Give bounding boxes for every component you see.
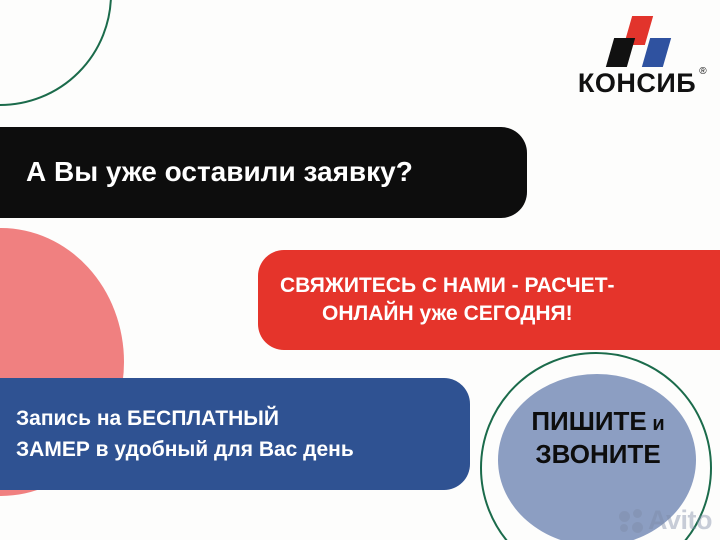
brand-logo: КОНСИБ® [568, 16, 706, 97]
avito-dot-4-icon [632, 522, 643, 533]
contact-banner-online: ОНЛАЙН [322, 302, 414, 325]
avito-dot-1-icon [619, 511, 630, 522]
call-to-action-line-2: ЗВОНИТЕ [496, 438, 700, 471]
call-to-action-line-1: ПИШИТЕ и [496, 405, 700, 438]
logo-black-parallelogram-icon [606, 38, 635, 67]
booking-banner-line-1: Запись на БЕСПЛАТНЫЙ [16, 403, 450, 435]
avito-logo-icon [619, 509, 645, 533]
avito-wordmark: Avito [648, 507, 712, 534]
logo-mark-icon [602, 16, 672, 68]
brand-name-text: КОНСИБ [578, 68, 696, 98]
avito-dot-3-icon [620, 524, 628, 532]
logo-blue-parallelogram-icon [642, 38, 671, 67]
call-to-action-write: ПИШИТЕ [531, 406, 646, 436]
call-to-action-text: ПИШИТЕ и ЗВОНИТЕ [496, 405, 700, 472]
question-banner: А Вы уже оставили заявку? [0, 127, 527, 218]
booking-banner-line-2: ЗАМЕР в удобный для Вас день [16, 434, 450, 466]
booking-banner: Запись на БЕСПЛАТНЫЙ ЗАМЕР в удобный для… [0, 378, 470, 490]
contact-banner-line-1: СВЯЖИТЕСЬ С НАМИ - РАСЧЕТ- [280, 272, 720, 300]
decorative-green-circle-top-left [0, 0, 112, 106]
advertisement-canvas: КОНСИБ® А Вы уже оставили заявку? СВЯЖИТ… [0, 0, 720, 540]
call-to-action-and: и [647, 413, 665, 435]
registered-trademark-icon: ® [699, 67, 707, 77]
contact-banner: СВЯЖИТЕСЬ С НАМИ - РАСЧЕТ- ОНЛАЙН уже СЕ… [258, 250, 720, 350]
avito-watermark: Avito [619, 507, 712, 534]
contact-banner-today: СЕГОДНЯ! [464, 302, 573, 325]
avito-dot-2-icon [633, 509, 642, 518]
contact-banner-line-2: ОНЛАЙН уже СЕГОДНЯ! [280, 300, 720, 328]
question-banner-text: А Вы уже оставили заявку? [26, 157, 503, 188]
contact-banner-already: уже [414, 302, 464, 325]
brand-name: КОНСИБ® [578, 70, 696, 97]
